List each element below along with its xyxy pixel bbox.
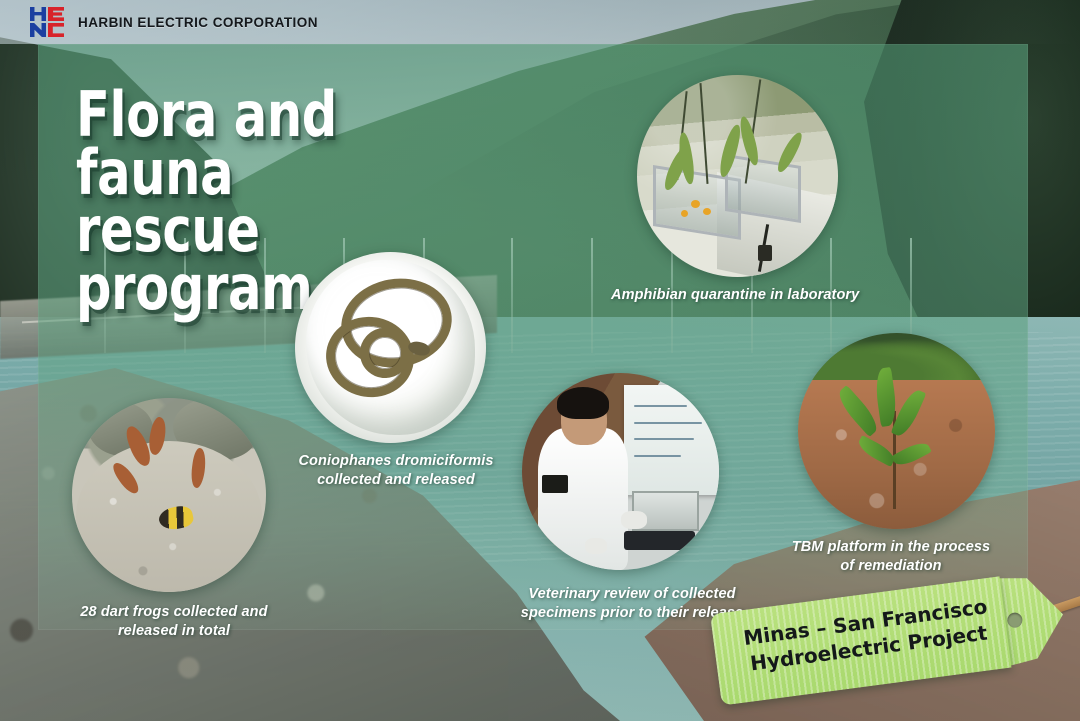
photo-circle-snake [295,252,486,443]
photo-frogs [72,398,266,592]
logo-block-h [30,7,46,21]
logo-block-n [30,23,46,37]
caption-tbm: TBM platform in the process of remediati… [772,538,1010,577]
caption-laboratory: Amphibian quarantine in laboratory [611,286,901,305]
vet-weighing-scale [624,531,695,551]
vet-lab-coat [538,428,629,570]
vet-hair [557,387,609,419]
poster-canvas: HARBIN ELECTRIC CORPORATION Flora and fa… [0,0,1080,721]
lab-power-plug [758,245,772,261]
photo-veterinary [522,373,719,570]
tbm-soil [798,372,995,529]
vet-whiteboard [624,385,719,495]
logo-block-e [48,7,64,21]
photo-circle-frogs [72,398,266,592]
vet-gloved-hand-right [621,511,647,529]
photo-tbm-remediation [798,333,995,529]
photo-circle-tbm [798,333,995,529]
project-name: Minas – San Francisco Hydroelectric Proj… [734,593,1000,678]
logo-block-c [48,23,64,37]
tbm-tree-line [798,333,995,380]
caption-snake: Coniophanes dromiciformis collected and … [288,452,504,491]
caption-frogs: 28 dart frogs collected and released in … [63,603,285,642]
lab-tank-right [725,154,801,223]
brand-name: HARBIN ELECTRIC CORPORATION [78,15,318,30]
photo-circle-veterinary [522,373,719,570]
harbin-electric-logo-icon [30,7,64,37]
vet-badge [542,475,568,493]
photo-snake [295,252,486,443]
lab-stem-2 [700,83,709,184]
photo-circle-laboratory [637,75,838,277]
photo-laboratory [637,75,838,277]
header-bar: HARBIN ELECTRIC CORPORATION [0,0,1080,44]
vet-gloved-hand-left [585,538,607,554]
